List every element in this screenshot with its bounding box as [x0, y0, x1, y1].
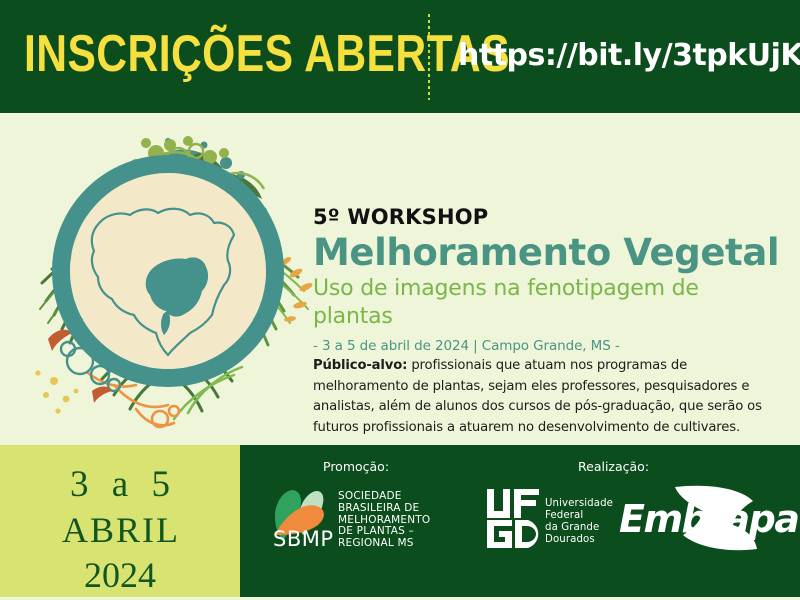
- sbmp-line-5: REGIONAL MS: [338, 538, 430, 550]
- sbmp-wordmark: SBMP: [273, 527, 334, 551]
- event-edition: 5º WORKSHOP: [313, 205, 783, 229]
- registration-url-link[interactable]: https://bit.ly/3tpkUjK: [458, 40, 800, 72]
- ufgd-line-1: Universidade: [545, 498, 613, 510]
- ufgd-line-4: Dourados: [545, 534, 613, 546]
- date-days: 3 a 5: [0, 462, 240, 508]
- globe-illustration: [18, 123, 318, 438]
- realizacao-label: Realização:: [578, 459, 649, 474]
- event-name: Melhoramento Vegetal: [313, 230, 783, 275]
- embrapa-wordmark: Embrapa: [619, 499, 798, 539]
- dotted-divider-icon: [428, 14, 430, 100]
- target-audience-label: Público-alvo:: [313, 358, 407, 373]
- target-audience-paragraph: Público-alvo: profissionais que atuam no…: [313, 356, 775, 438]
- event-date-location: - 3 a 5 de abril de 2024 | Campo Grande,…: [313, 336, 783, 356]
- date-year: 2024: [0, 553, 240, 598]
- promocao-label: Promoção:: [323, 459, 389, 474]
- ufgd-monogram-icon: [485, 487, 543, 549]
- date-month: ABRIL: [0, 508, 240, 553]
- registration-open-headline: INSCRIÇÕES ABERTAS: [24, 28, 510, 80]
- embrapa-logo: Embrapa: [615, 485, 785, 555]
- ufgd-fullname: Universidade Federal da Grande Dourados: [545, 498, 613, 546]
- ufgd-line-3: da Grande: [545, 522, 613, 534]
- event-title-block: 5º WORKSHOP Melhoramento Vegetal Uso de …: [313, 205, 783, 356]
- ufgd-line-2: Federal: [545, 510, 613, 522]
- event-poster: INSCRIÇÕES ABERTAS https://bit.ly/3tpkUj…: [0, 0, 800, 600]
- sbmp-line-2: BRASILEIRA DE: [338, 503, 430, 515]
- sbmp-fullname: SOCIEDADE BRASILEIRA DE MELHORAMENTO DE …: [338, 491, 430, 550]
- main-content: 5º WORKSHOP Melhoramento Vegetal Uso de …: [0, 113, 800, 445]
- date-panel: 3 a 5 ABRIL 2024: [0, 445, 240, 597]
- footer-logos-bar: Promoção: Realização: SBMP SOCIEDADE BRA…: [240, 445, 800, 597]
- event-subtitle: Uso de imagens na fenotipagem de plantas: [313, 275, 783, 331]
- header-banner: INSCRIÇÕES ABERTAS https://bit.ly/3tpkUj…: [0, 0, 800, 113]
- sbmp-logo: SBMP SOCIEDADE BRASILEIRA DE MELHORAMENT…: [265, 485, 465, 555]
- ufgd-logo: Universidade Federal da Grande Dourados: [485, 487, 615, 551]
